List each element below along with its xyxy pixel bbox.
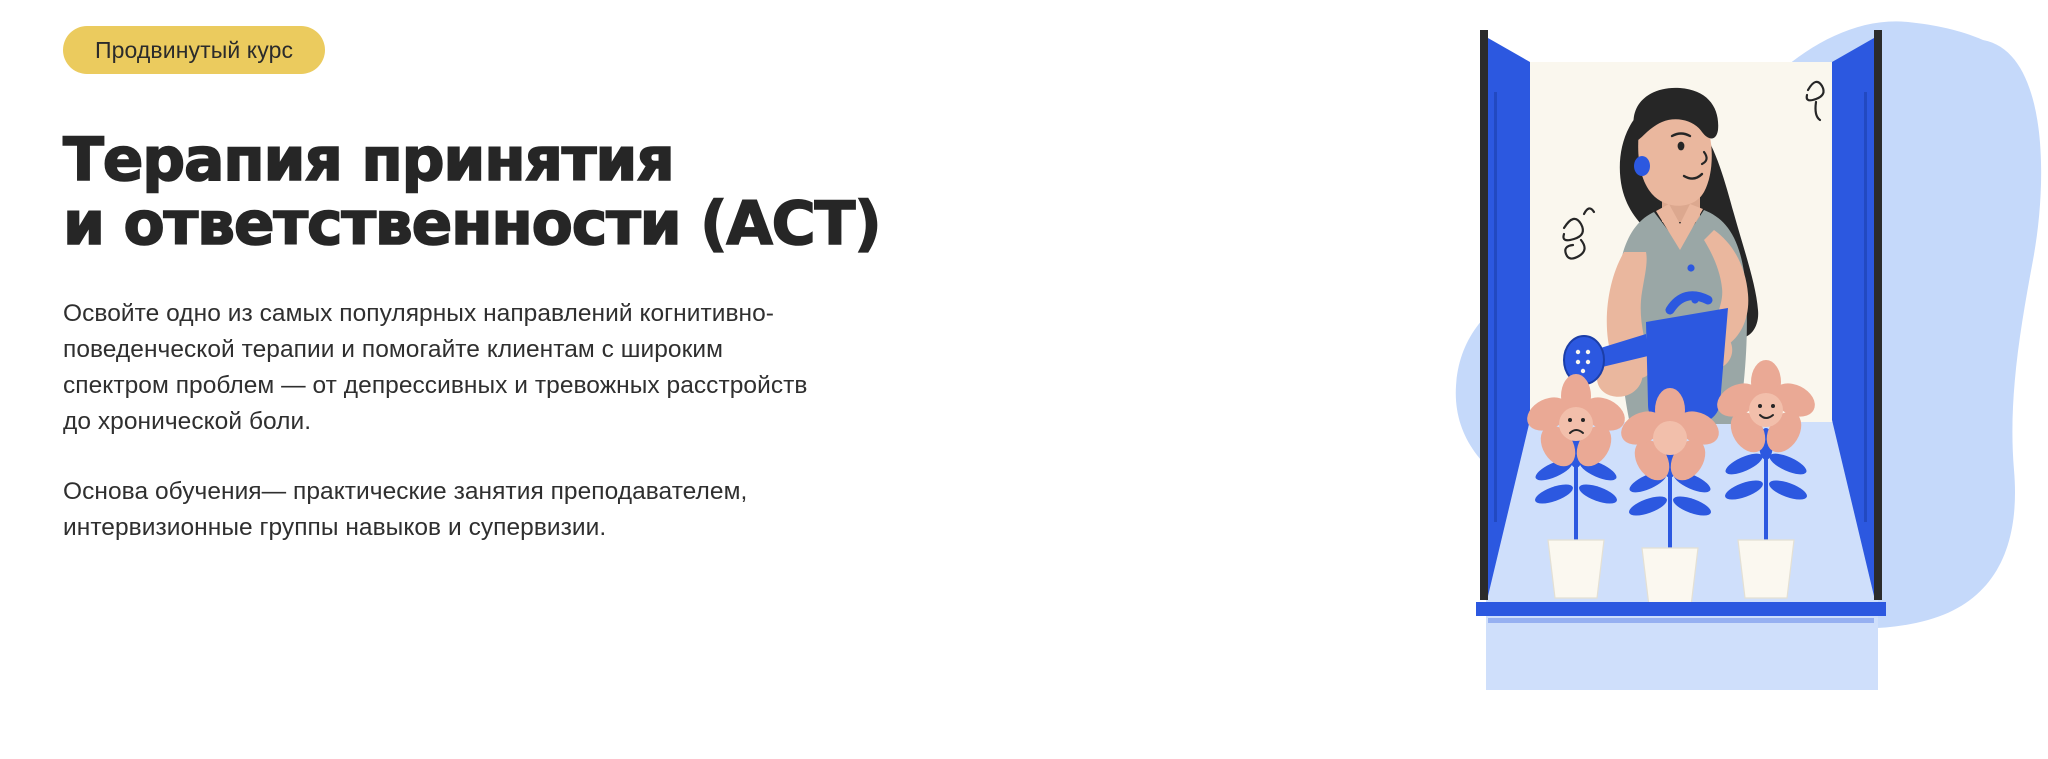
page-title-line-1: Терапия принятия	[63, 128, 963, 192]
illustration-svg	[1408, 0, 2048, 759]
description-paragraph-1: Освойте одно из самых популярных направл…	[63, 296, 823, 440]
flower-center	[1653, 421, 1687, 455]
eye	[1678, 142, 1685, 151]
flower-center	[1749, 393, 1783, 427]
page-title: Терапия принятия и ответственности (ACT)	[63, 128, 963, 256]
page-title-line-2: и ответственности (ACT)	[63, 192, 963, 256]
hero-content-column: Продвинутый курс Терапия принятия и отве…	[63, 0, 963, 759]
hero-description: Освойте одно из самых популярных направл…	[63, 296, 823, 546]
description-paragraph-2: Основа обучения— практические занятия пр…	[63, 474, 823, 546]
pot-left	[1548, 540, 1604, 598]
pot-middle	[1642, 548, 1698, 606]
dress-button	[1687, 264, 1694, 271]
floor-bar-shadow	[1488, 618, 1874, 623]
course-level-badge: Продвинутый курс	[63, 26, 325, 74]
earring	[1634, 156, 1650, 176]
flower-center	[1559, 407, 1593, 441]
hero-illustration	[1408, 0, 2048, 759]
floor-bar	[1476, 602, 1886, 616]
pot-right	[1738, 540, 1794, 598]
